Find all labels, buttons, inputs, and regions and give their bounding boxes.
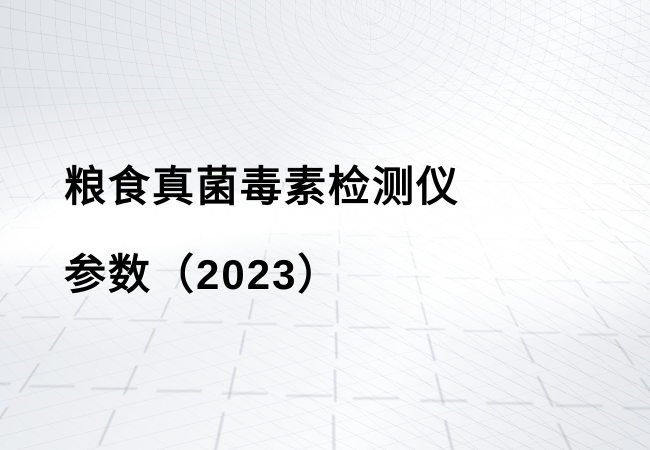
title-line-secondary: 参数（2023） [64,231,460,319]
title-line-primary: 粮食真菌毒素检测仪 [64,143,460,231]
title-banner: 粮食真菌毒素检测仪 参数（2023） [0,0,650,450]
page-title: 粮食真菌毒素检测仪 参数（2023） [64,143,460,319]
